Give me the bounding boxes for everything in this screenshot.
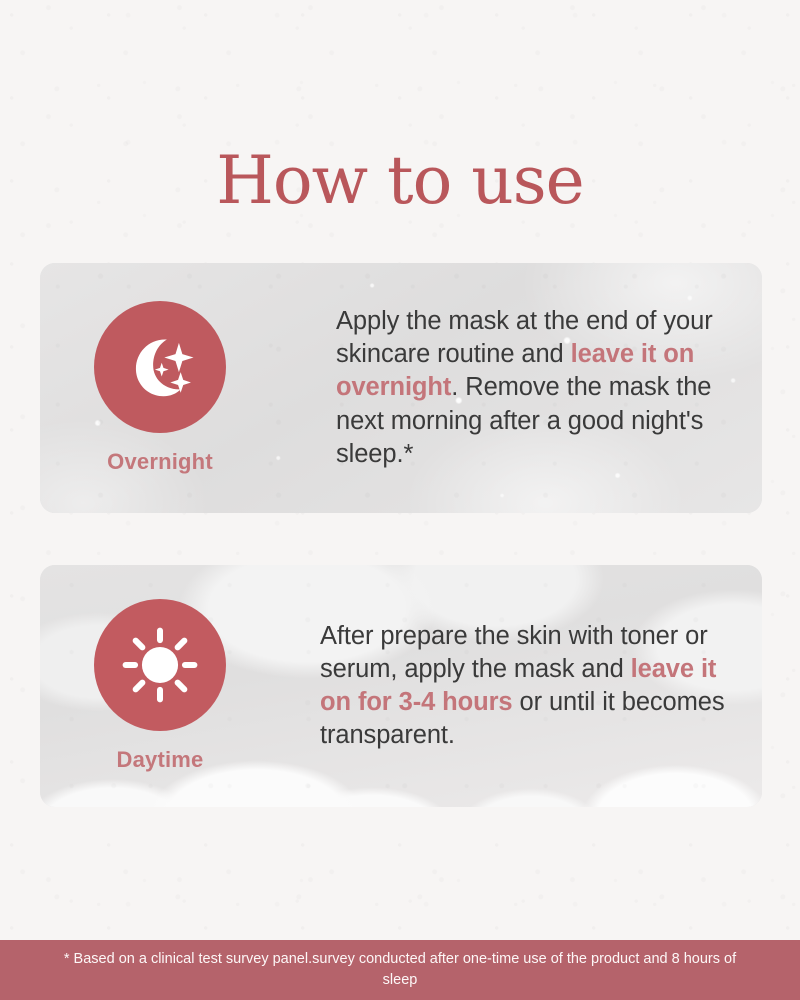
page-title: How to use xyxy=(0,148,800,214)
overnight-icon-badge xyxy=(94,301,226,433)
daytime-icon-badge xyxy=(94,599,226,731)
disclaimer-text: * Based on a clinical test survey panel.… xyxy=(48,949,752,990)
overnight-instruction-text: Apply the mask at the end of your skinca… xyxy=(280,305,762,471)
overnight-label: Overnight xyxy=(107,449,213,475)
step-card-overnight: Overnight Apply the mask at the end of y… xyxy=(40,263,762,513)
step-card-daytime: Daytime After prepare the skin with tone… xyxy=(40,565,762,807)
crescent-moon-stars-icon xyxy=(117,324,203,410)
daytime-icon-column: Daytime xyxy=(40,599,280,773)
daytime-instruction-text: After prepare the skin with toner or ser… xyxy=(280,620,762,753)
overnight-icon-column: Overnight xyxy=(40,301,280,475)
disclaimer-footer: * Based on a clinical test survey panel.… xyxy=(0,940,800,1000)
how-to-use-infographic: How to use Overnight Apply the mask at t… xyxy=(0,0,800,1000)
sun-icon xyxy=(117,622,203,708)
daytime-label: Daytime xyxy=(117,747,204,773)
